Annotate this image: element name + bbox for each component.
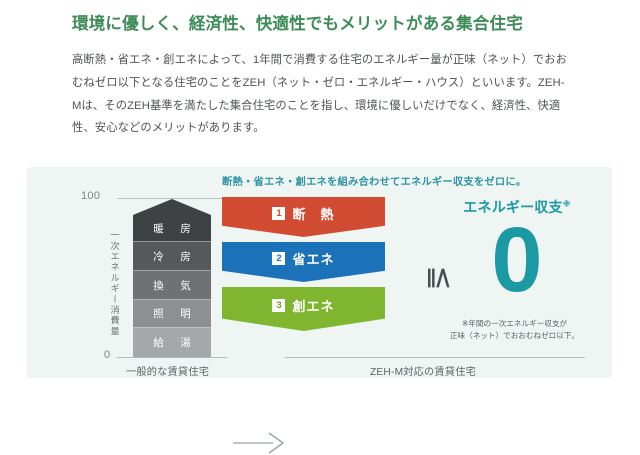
bar-segment-hot-water: 給 湯 [133,328,211,357]
step-number-3: 3 [272,299,285,312]
house-roof-icon [133,199,211,215]
right-arrow-icon [233,431,289,455]
infographic-panel: 100 0 一次エネルギー消費量 暖 房 冷 房 換 気 照 明 給 湯 断熱・… [27,167,612,378]
page-title: 環境に優しく、経済性、快適性でもメリットがある集合住宅 [72,14,572,35]
result-footnote-line2: 正味（ネット）でおおむねゼロ以下。 [422,330,607,342]
caption-standard-housing: 一般的な賃貸住宅 [126,363,209,378]
zeh-steps-block: 断熱・省エネ・創エネを組み合わせてエネルギー収支をゼロに。 1 断 熱 2 省エ… [222,173,427,331]
infographic-banner: 断熱・省エネ・創エネを組み合わせてエネルギー収支をゼロに。 [222,173,427,188]
axis-max-label: 100 [81,190,100,202]
step-number-2: 2 [272,252,285,265]
energy-balance-result: エネルギー収支※ 0 [427,197,607,304]
step-chevron-insulation: 1 断 熱 [222,197,385,237]
bar-segment-cooling: 冷 房 [133,242,211,271]
caption-rule-right [285,357,585,358]
bar-segment-lighting: 照 明 [133,300,211,328]
house-bar-stack: 暖 房 冷 房 換 気 照 明 給 湯 [133,199,211,357]
article-body: 高断熱・省エネ・創エネによって、1年間で消費する住宅のエネルギー量が正味（ネット… [72,49,572,139]
result-value-zero: 0 [427,217,607,304]
step-label-1: 断 熱 [292,204,334,223]
bar-segment-ventilation: 換 気 [133,271,211,300]
article-header: 環境に優しく、経済性、快適性でもメリットがある集合住宅 高断熱・省エネ・創エネに… [72,14,572,140]
step-label-3: 創エネ [292,296,334,315]
step-chevron-energy-saving: 2 省エネ [222,242,385,282]
step-chevron-energy-creation: 3 創エネ [222,287,385,331]
step-number-1: 1 [272,207,285,220]
result-footnote-line1: ※年間の一次エネルギー収支が [422,318,607,330]
caption-zehm-housing: ZEH-M対応の賃貸住宅 [370,363,476,378]
result-title-asterisk: ※ [563,199,571,208]
caption-rule-left [117,357,227,358]
bar-segment-heating: 暖 房 [133,215,211,242]
result-footnote: ※年間の一次エネルギー収支が 正味（ネット）でおおむねゼロ以下。 [422,318,607,342]
step-label-2: 省エネ [292,249,334,268]
y-axis-title: 一次エネルギー消費量 [107,214,121,352]
